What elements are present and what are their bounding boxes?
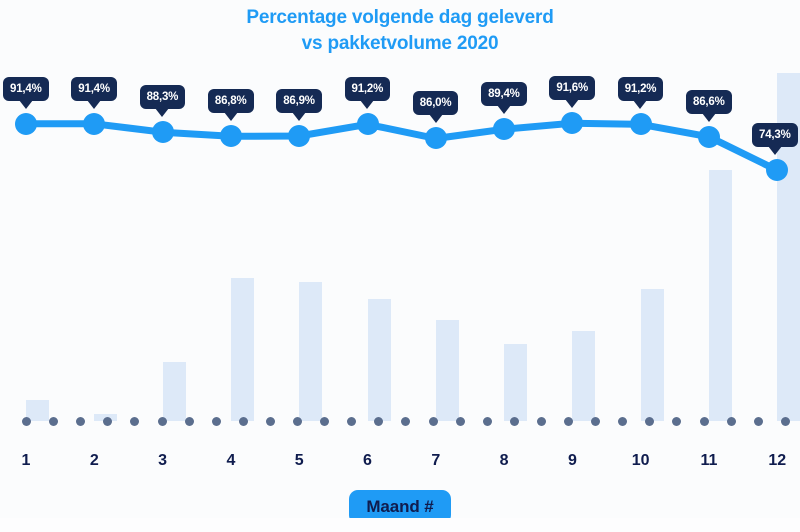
bottom-strip xyxy=(0,518,800,532)
x-tick-4: 4 xyxy=(201,452,261,470)
data-label-month-2: 91,4% xyxy=(71,77,117,101)
data-label-month-3: 88,3% xyxy=(140,85,186,109)
data-label-month-6: 91,2% xyxy=(345,77,391,101)
x-tick-11: 11 xyxy=(679,452,739,470)
data-label-month-4: 86,8% xyxy=(208,89,254,113)
data-label-month-5: 86,9% xyxy=(276,89,322,113)
data-label-month-12: 74,3% xyxy=(752,123,798,147)
data-label-month-1: 91,4% xyxy=(3,77,49,101)
data-label-month-8: 89,4% xyxy=(481,82,527,106)
data-label-month-9: 91,6% xyxy=(549,76,595,100)
x-tick-2: 2 xyxy=(64,452,124,470)
x-tick-1: 1 xyxy=(0,452,56,470)
x-tick-12: 12 xyxy=(747,452,800,470)
x-tick-6: 6 xyxy=(338,452,398,470)
plot-area: 91,4%91,4%88,3%86,8%86,9%91,2%86,0%89,4%… xyxy=(0,0,800,425)
x-tick-9: 9 xyxy=(542,452,602,470)
data-label-layer: 91,4%91,4%88,3%86,8%86,9%91,2%86,0%89,4%… xyxy=(0,0,800,425)
data-label-month-7: 86,0% xyxy=(413,91,459,115)
x-axis-ticks: 123456789101112 xyxy=(0,452,800,482)
chart-container: Percentage volgende dag geleverd vs pakk… xyxy=(0,0,800,532)
x-tick-3: 3 xyxy=(133,452,193,470)
x-tick-10: 10 xyxy=(611,452,671,470)
x-tick-8: 8 xyxy=(474,452,534,470)
x-tick-5: 5 xyxy=(269,452,329,470)
data-label-month-11: 86,6% xyxy=(686,90,732,114)
data-label-month-10: 91,2% xyxy=(618,77,664,101)
x-tick-7: 7 xyxy=(406,452,466,470)
